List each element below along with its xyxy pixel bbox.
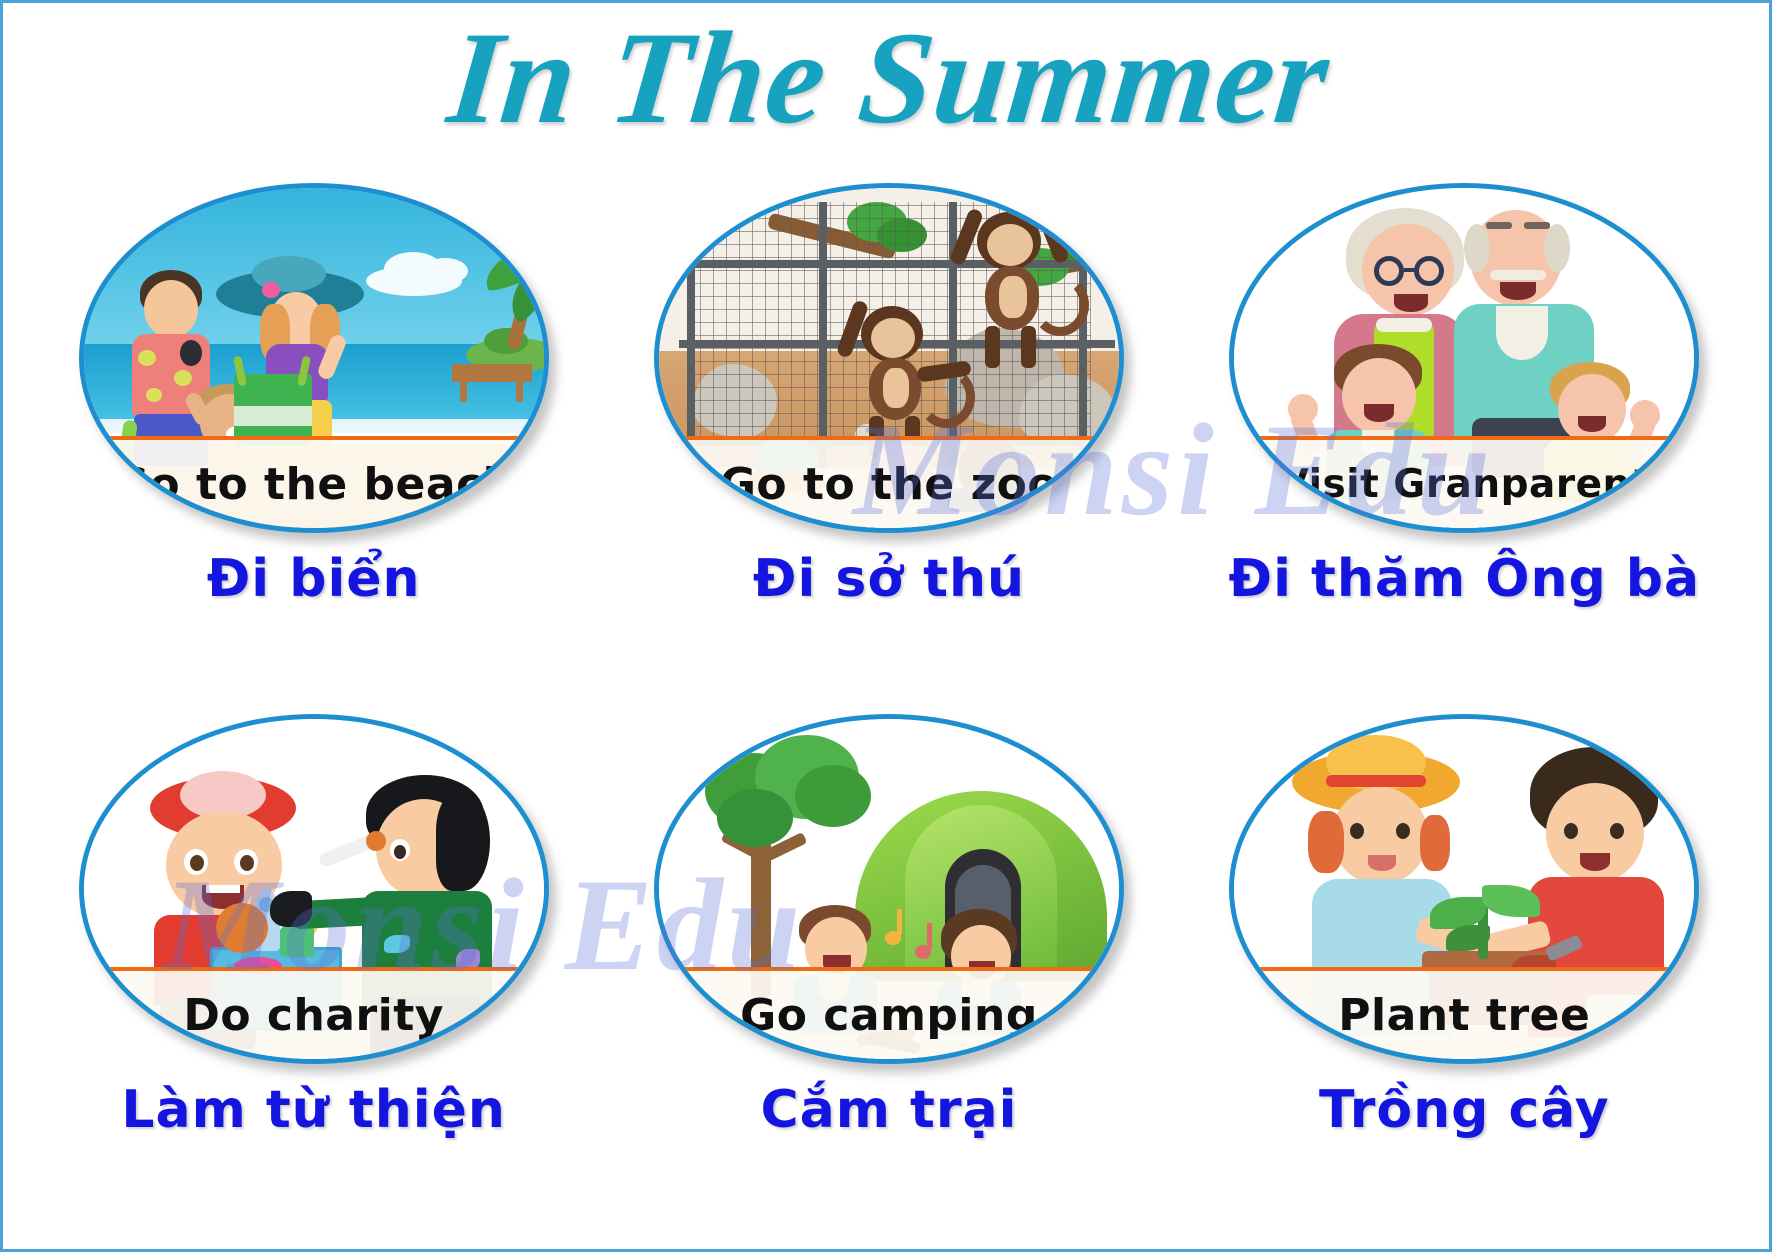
card-cell-grandparent: Visit Granparent Đi thăm Ông bà — [1180, 183, 1749, 712]
card-vietnamese-caption: Đi biển — [207, 549, 421, 609]
card-go-to-the-zoo[interactable]: Go to the zoo — [654, 183, 1124, 533]
card-visit-grandparent[interactable]: Visit Granparent — [1229, 183, 1699, 533]
poster-canvas: In The Summer Monsi Edu Monsi Edu — [0, 0, 1772, 1252]
card-cell-camping: Go camping Cắm trại — [604, 714, 1173, 1243]
card-go-to-the-beach[interactable]: Go to the beach — [79, 183, 549, 533]
card-english-label: Plant tree — [1338, 990, 1590, 1041]
card-cell-charity: Do charity Làm từ thiện — [29, 714, 598, 1243]
card-go-camping[interactable]: Go camping — [654, 714, 1124, 1064]
card-vietnamese-caption: Đi thăm Ông bà — [1229, 549, 1701, 609]
card-label-band: Go to the zoo — [659, 436, 1119, 528]
card-english-label: Visit Granparent — [1279, 462, 1650, 507]
page-title: In The Summer — [0, 9, 1772, 148]
card-plant-tree[interactable]: Plant tree — [1229, 714, 1699, 1064]
card-vietnamese-caption: Làm từ thiện — [121, 1080, 505, 1140]
card-vietnamese-caption: Đi sở thú — [753, 549, 1025, 609]
card-english-label: Go to the beach — [113, 459, 515, 510]
card-english-label: Go to the zoo — [720, 459, 1058, 510]
card-label-band: Go to the beach — [84, 436, 544, 528]
card-english-label: Do charity — [183, 990, 444, 1041]
card-vietnamese-caption: Trồng cây — [1319, 1080, 1610, 1140]
card-cell-beach: Go to the beach Đi biển — [29, 183, 598, 712]
card-cell-plant-tree: Plant tree Trồng cây — [1180, 714, 1749, 1243]
card-cell-zoo: Go to the zoo Đi sở thú — [604, 183, 1173, 712]
card-label-band: Go camping — [659, 967, 1119, 1059]
card-vietnamese-caption: Cắm trại — [761, 1080, 1018, 1140]
card-label-band: Visit Granparent — [1234, 436, 1694, 528]
card-label-band: Plant tree — [1234, 967, 1694, 1059]
card-do-charity[interactable]: Do charity — [79, 714, 549, 1064]
card-label-band: Do charity — [84, 967, 544, 1059]
card-english-label: Go camping — [740, 990, 1038, 1041]
activity-card-grid: Go to the beach Đi biển — [29, 183, 1749, 1243]
